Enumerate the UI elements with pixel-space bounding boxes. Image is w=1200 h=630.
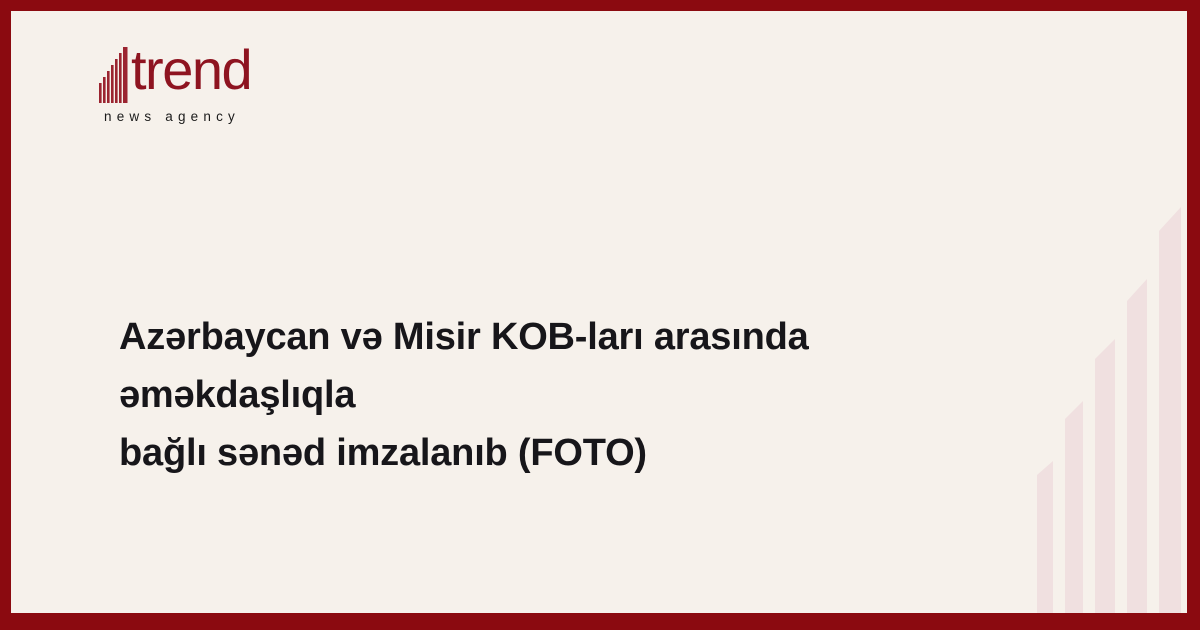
rising-bars-icon	[97, 45, 131, 103]
brand-logo[interactable]: trend news agency	[97, 45, 287, 141]
logo-wordmark: trend	[131, 39, 251, 101]
headline-title: Azərbaycan və Misir KOB-ları arasında əm…	[119, 308, 979, 482]
rising-bars-watermark	[1027, 173, 1187, 613]
logo-mark: trend	[97, 45, 277, 103]
logo-tagline: news agency	[104, 109, 240, 124]
card-canvas: trend news agency Azərbaycan və Misir KO…	[11, 11, 1187, 613]
social-share-card: trend news agency Azərbaycan və Misir KO…	[0, 0, 1200, 630]
